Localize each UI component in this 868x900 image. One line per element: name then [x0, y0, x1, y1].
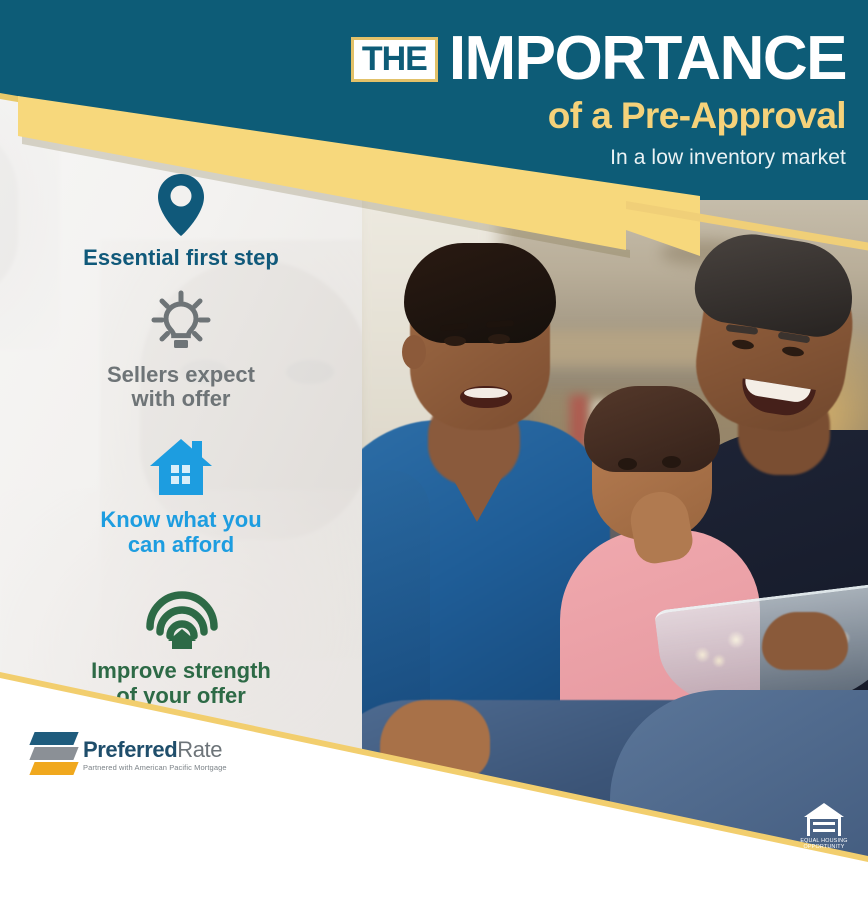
title-line-1: THE IMPORTANCE [351, 30, 846, 89]
logo-bar-navy [29, 732, 78, 745]
logo-bar-gold [29, 762, 78, 775]
house-icon [0, 430, 362, 504]
child-eye-right [662, 456, 681, 468]
feature-label-line-1: Sellers expect [0, 363, 362, 388]
page-title: IMPORTANCE [449, 30, 846, 89]
child-hand-lower [380, 700, 490, 780]
child-hair [584, 386, 720, 472]
feature-label: Essential first step [0, 246, 362, 271]
logo-tagline: Partnered with American Pacific Mortgage [83, 764, 227, 772]
page-tagline: In a low inventory market [351, 147, 846, 168]
feature-label-line-1: Improve strength [0, 659, 362, 684]
signal-house-icon [0, 581, 362, 655]
eho-body [807, 816, 841, 836]
logo-mark-icon [32, 732, 76, 778]
feature-label: Know what you can afford [0, 508, 362, 557]
father-teeth [464, 388, 508, 398]
feature-item-sellers-expect: Sellers expect with offer [0, 285, 362, 412]
logo-text: PreferredRate Partnered with American Pa… [83, 739, 227, 772]
preferred-rate-logo: PreferredRate Partnered with American Pa… [32, 732, 227, 778]
eho-line-1 [813, 822, 835, 825]
feature-label-line-2: of your offer [0, 684, 362, 709]
poster: THE IMPORTANCE of a Pre-Approval In a lo… [0, 0, 868, 900]
header-text-block: THE IMPORTANCE of a Pre-Approval In a lo… [351, 30, 846, 168]
father-eye-left [444, 336, 466, 346]
eho-text-line-2: OPPORTUNITY [800, 844, 847, 850]
page-subtitle: of a Pre-Approval [351, 97, 846, 134]
child-eye-left [618, 458, 637, 470]
eho-line-2 [813, 829, 835, 832]
eho-text: EQUAL HOUSING OPPORTUNITY [800, 838, 847, 850]
logo-name-bold: Preferred [83, 737, 177, 762]
logo-bar-gray [29, 747, 78, 760]
feature-item-improve-strength: Improve strength of your offer [0, 581, 362, 708]
feature-item-essential-first-step: Essential first step [0, 168, 362, 271]
eho-roof [804, 803, 844, 817]
equal-housing-opportunity-logo: EQUAL HOUSING OPPORTUNITY [800, 803, 848, 855]
jeans-lap-front [610, 690, 868, 900]
feature-label-line-2: with offer [0, 387, 362, 412]
feature-list: Essential first step [0, 168, 362, 708]
feature-label-line-2: can afford [0, 533, 362, 558]
feature-item-know-what-you-can-afford: Know what you can afford [0, 430, 362, 557]
logo-name: PreferredRate [83, 739, 227, 761]
father-hair [404, 243, 556, 343]
father-eye-right [488, 334, 510, 344]
map-pin-icon [0, 168, 362, 242]
lightbulb-icon [0, 285, 362, 359]
feature-label-line-1: Know what you [0, 508, 362, 533]
feature-label: Improve strength of your offer [0, 659, 362, 708]
father-ear [402, 335, 426, 369]
feature-label: Sellers expect with offer [0, 363, 362, 412]
the-badge-label: THE [362, 44, 427, 75]
eho-house-icon [804, 803, 844, 836]
logo-name-light: Rate [177, 737, 222, 762]
grandfather-hand [762, 612, 848, 670]
the-badge: THE [351, 37, 438, 81]
